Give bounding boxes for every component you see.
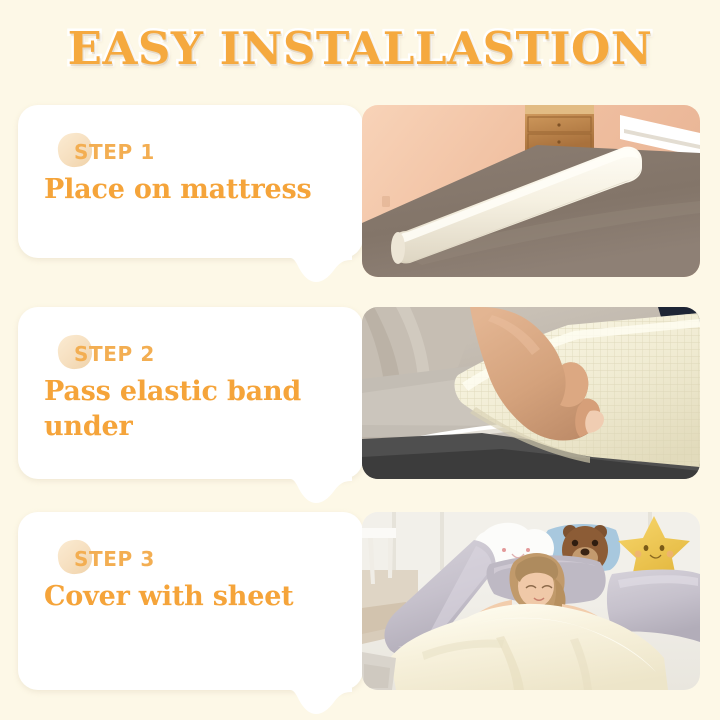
step-badge-2: STEP 2 bbox=[44, 341, 337, 367]
step-card-1: STEP 1 Place on mattress bbox=[18, 105, 363, 258]
card-tail-1 bbox=[290, 256, 352, 290]
step-photo-1 bbox=[362, 105, 700, 277]
card-tail-2 bbox=[290, 477, 352, 511]
step-badge-1: STEP 1 bbox=[44, 139, 337, 165]
step-headline: Cover with sheet bbox=[44, 580, 337, 615]
step-section-3: STEP 3 Cover with sheet bbox=[0, 512, 720, 707]
step-section-2: STEP 2 Pass elastic band under bbox=[0, 307, 720, 502]
step-badge-3: STEP 3 bbox=[44, 546, 337, 572]
page-title: EASY INSTALLASTION bbox=[68, 26, 653, 71]
step-section-1: STEP 1 Place on mattress bbox=[0, 105, 720, 280]
step-headline: Pass elastic band under bbox=[44, 375, 337, 444]
step-photo-3 bbox=[362, 512, 700, 690]
step-photo-2 bbox=[362, 307, 700, 479]
step-badge-label: STEP 2 bbox=[74, 341, 155, 367]
step-card-3: STEP 3 Cover with sheet bbox=[18, 512, 363, 690]
step-headline: Place on mattress bbox=[44, 173, 337, 208]
header: EASY INSTALLASTION bbox=[0, 0, 720, 96]
card-tail-3 bbox=[290, 688, 352, 720]
step-card-2: STEP 2 Pass elastic band under bbox=[18, 307, 363, 479]
step-badge-label: STEP 3 bbox=[74, 546, 155, 572]
step-badge-label: STEP 1 bbox=[74, 139, 155, 165]
